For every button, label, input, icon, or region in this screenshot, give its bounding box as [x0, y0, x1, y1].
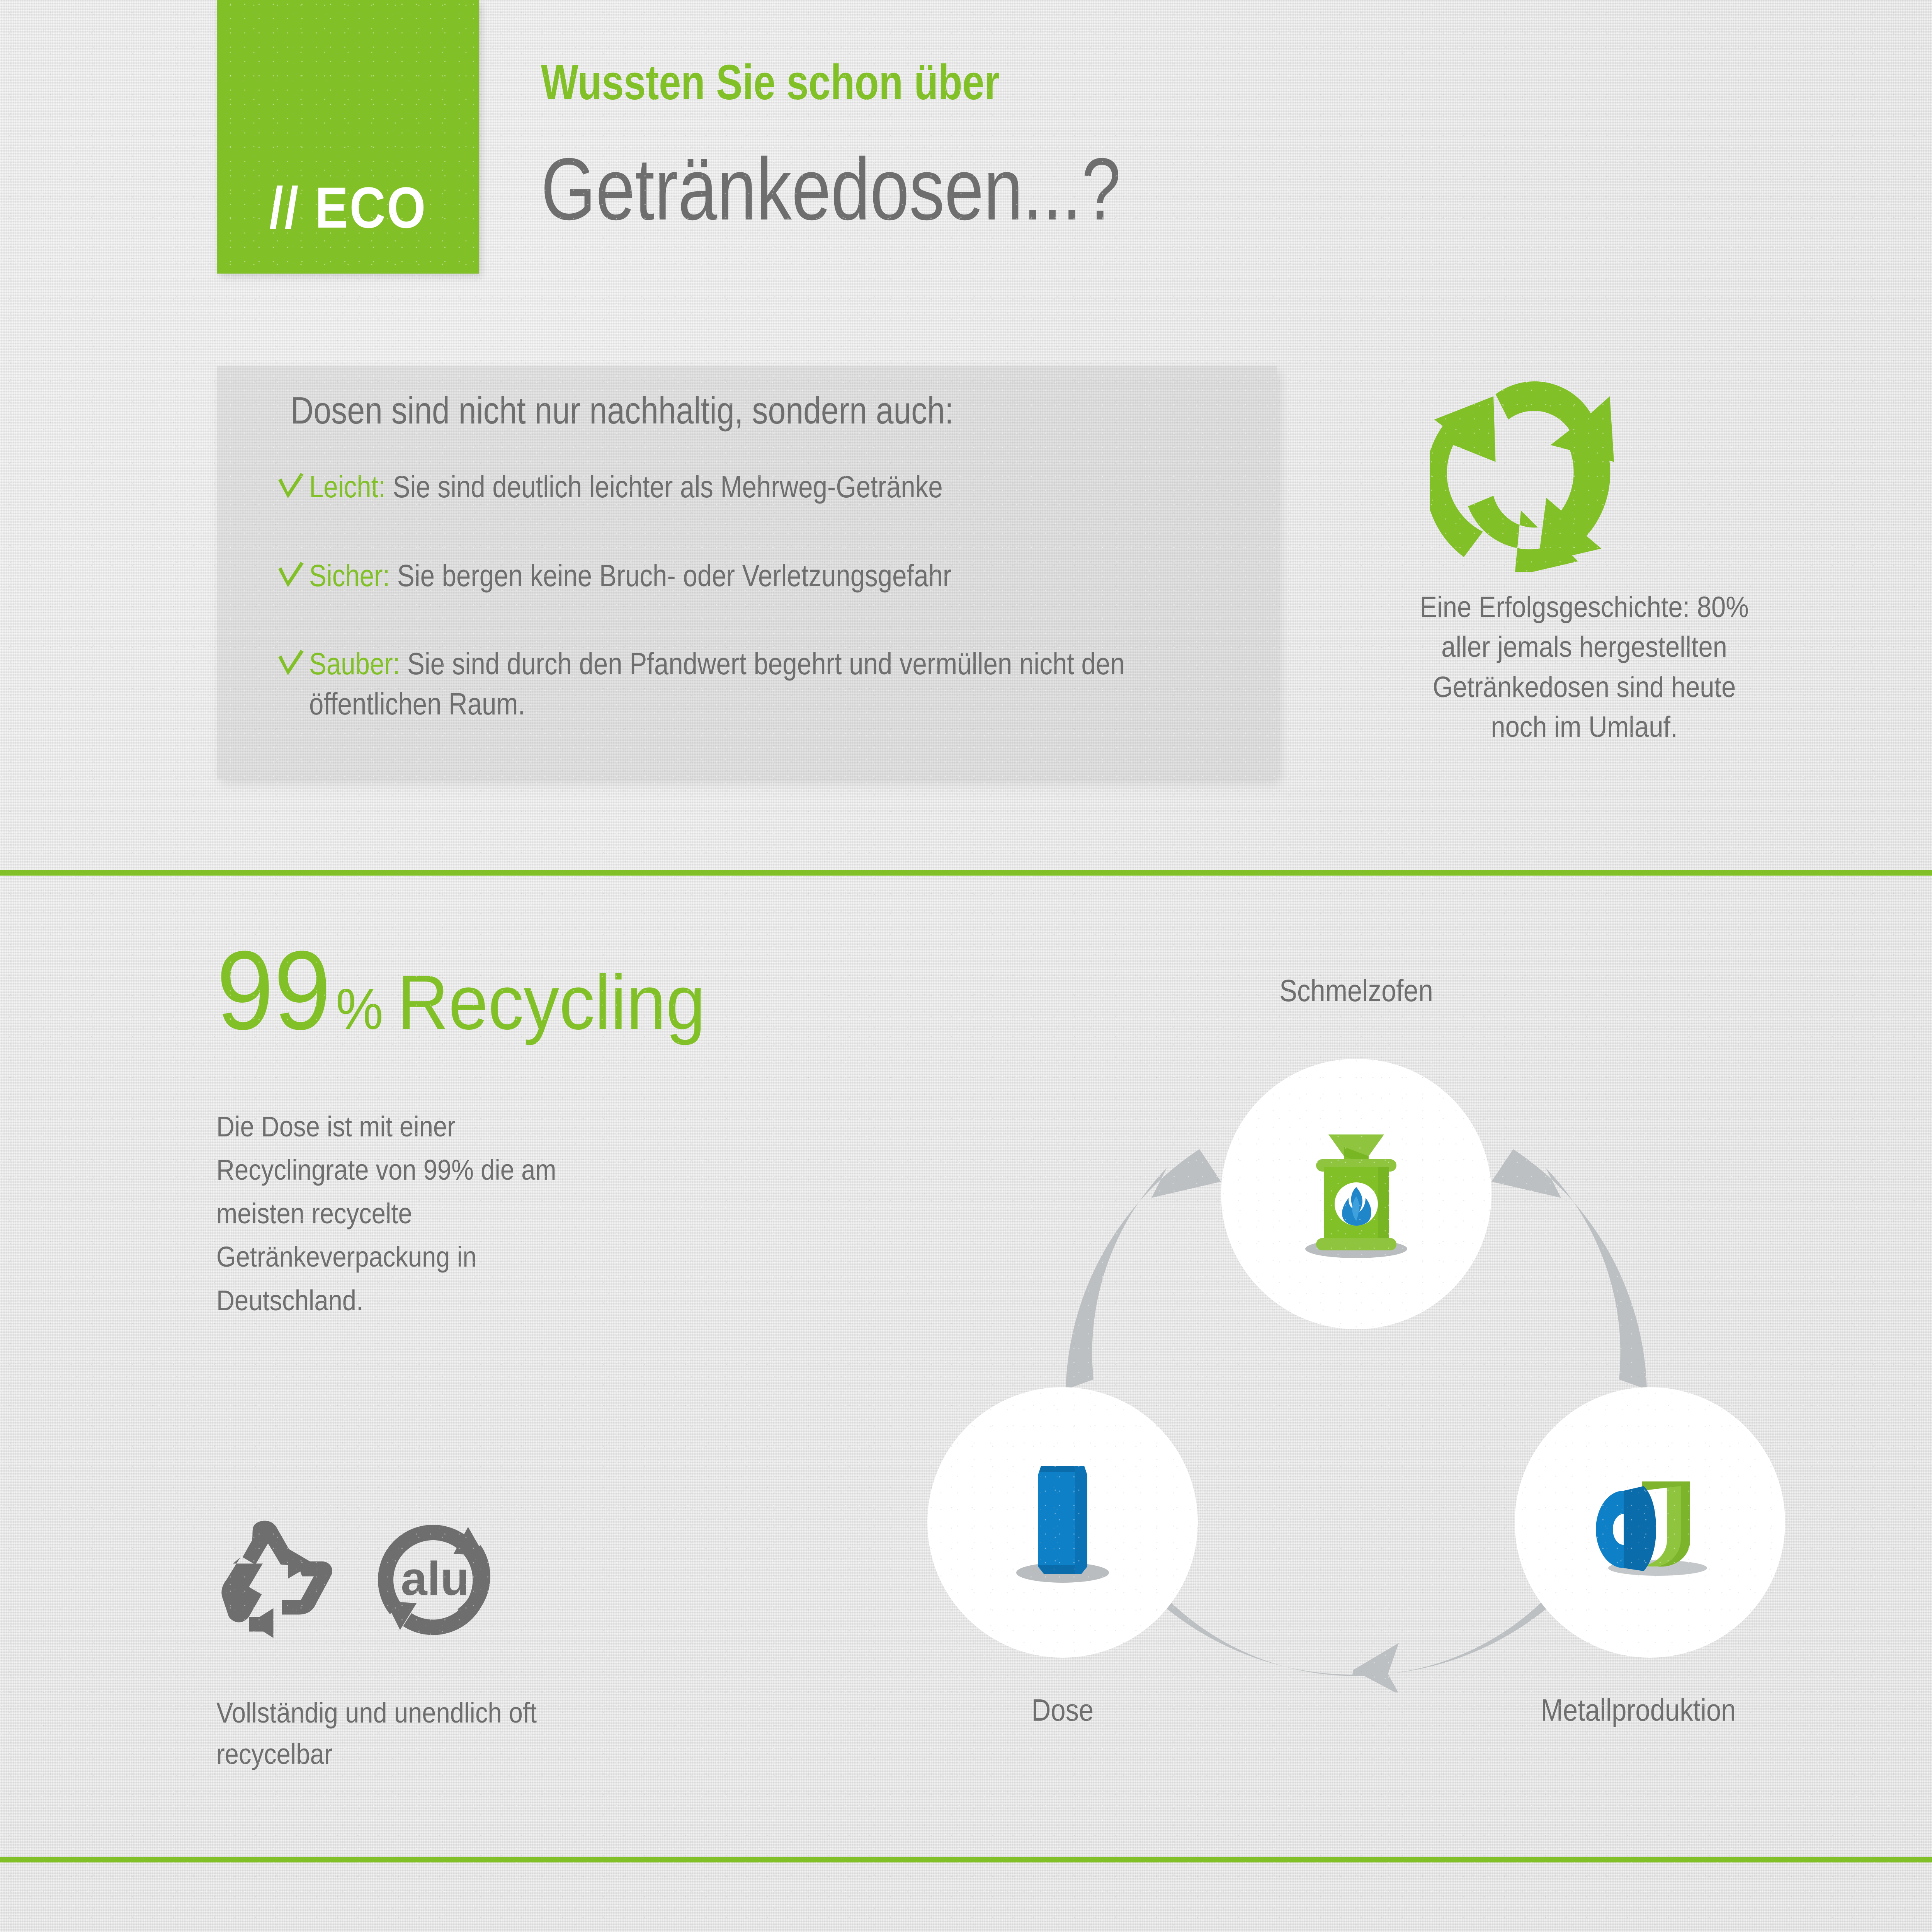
list-item: Sauber: Sie sind durch den Pfandwert beg… — [276, 644, 1298, 724]
section-divider-bottom — [0, 1857, 1932, 1862]
recycling-rate-body: Die Dose ist mit einer Recyclingrate von… — [216, 1105, 556, 1322]
recycling-rate-percent: % — [336, 976, 383, 1043]
list-item-body: Sie bergen keine Bruch- oder Verletzungs… — [390, 558, 951, 593]
list-item-text: Leicht: Sie sind deutlich leichter als M… — [309, 467, 943, 507]
list-item-lead: Leicht: — [309, 469, 386, 504]
eco-brand-label: // ECO — [269, 174, 427, 241]
benefits-panel-title: Dosen sind nicht nur nachhaltig, sondern… — [291, 389, 954, 432]
check-icon — [276, 560, 306, 596]
alu-recycle-icon: alu — [373, 1519, 497, 1640]
eco-brand-block: // ECO — [217, 0, 479, 274]
page-title: Getränkedosen...? — [541, 139, 1121, 240]
cycle-node-can — [927, 1387, 1198, 1658]
section-divider-top — [0, 870, 1932, 876]
mobius-loop-recycle-icon — [220, 1519, 348, 1640]
cycle-label-metal: Metallproduktion — [1541, 1692, 1736, 1728]
recycling-cycle-diagram: Schmelzofen — [912, 966, 1801, 1808]
list-item: Leicht: Sie sind deutlich leichter als M… — [276, 467, 1063, 507]
cycle-node-furnace — [1221, 1059, 1492, 1329]
recycling-rate-word: Recycling — [397, 958, 706, 1047]
smelting-furnace-icon — [1279, 1116, 1434, 1272]
recyclability-caption: Vollständig und unendlich oft recycelbar — [216, 1692, 590, 1775]
check-icon — [276, 471, 306, 507]
success-story-block: Eine Erfolgsgeschichte: 80% aller jemals… — [1430, 371, 1739, 574]
recycling-rate-headline: 99%Recycling — [216, 939, 732, 1047]
list-item: Sicher: Sie bergen keine Bruch- oder Ver… — [276, 556, 1074, 596]
list-item-lead: Sicher: — [309, 558, 390, 593]
recyclability-badges: alu — [220, 1519, 497, 1640]
list-item-lead: Sauber: — [309, 646, 400, 681]
check-icon — [276, 648, 306, 684]
cycle-label-furnace: Schmelzofen — [1279, 973, 1433, 1009]
success-story-caption: Eine Erfolgsgeschichte: 80% aller jemals… — [1407, 587, 1761, 747]
list-item-text: Sauber: Sie sind durch den Pfandwert beg… — [309, 644, 1140, 724]
header-kicker: Wussten Sie schon über — [541, 54, 1000, 111]
recycling-rate-number: 99 — [216, 939, 331, 1042]
infographic-page: // ECO Wussten Sie schon über Getränkedo… — [0, 0, 1932, 1932]
recycle-arrows-icon — [1430, 567, 1646, 573]
list-item-body: Sie sind deutlich leichter als Mehrweg-G… — [386, 469, 943, 504]
alu-label: alu — [401, 1552, 469, 1605]
beverage-can-icon — [985, 1444, 1140, 1601]
cycle-label-can: Dose — [1032, 1692, 1094, 1728]
benefits-panel: Dosen sind nicht nur nachhaltig, sondern… — [217, 366, 1277, 779]
cycle-node-metal — [1515, 1387, 1785, 1658]
list-item-body: Sie sind durch den Pfandwert begehrt und… — [309, 646, 1125, 721]
metal-coil-icon — [1573, 1444, 1727, 1601]
list-item-text: Sicher: Sie bergen keine Bruch- oder Ver… — [309, 556, 951, 596]
